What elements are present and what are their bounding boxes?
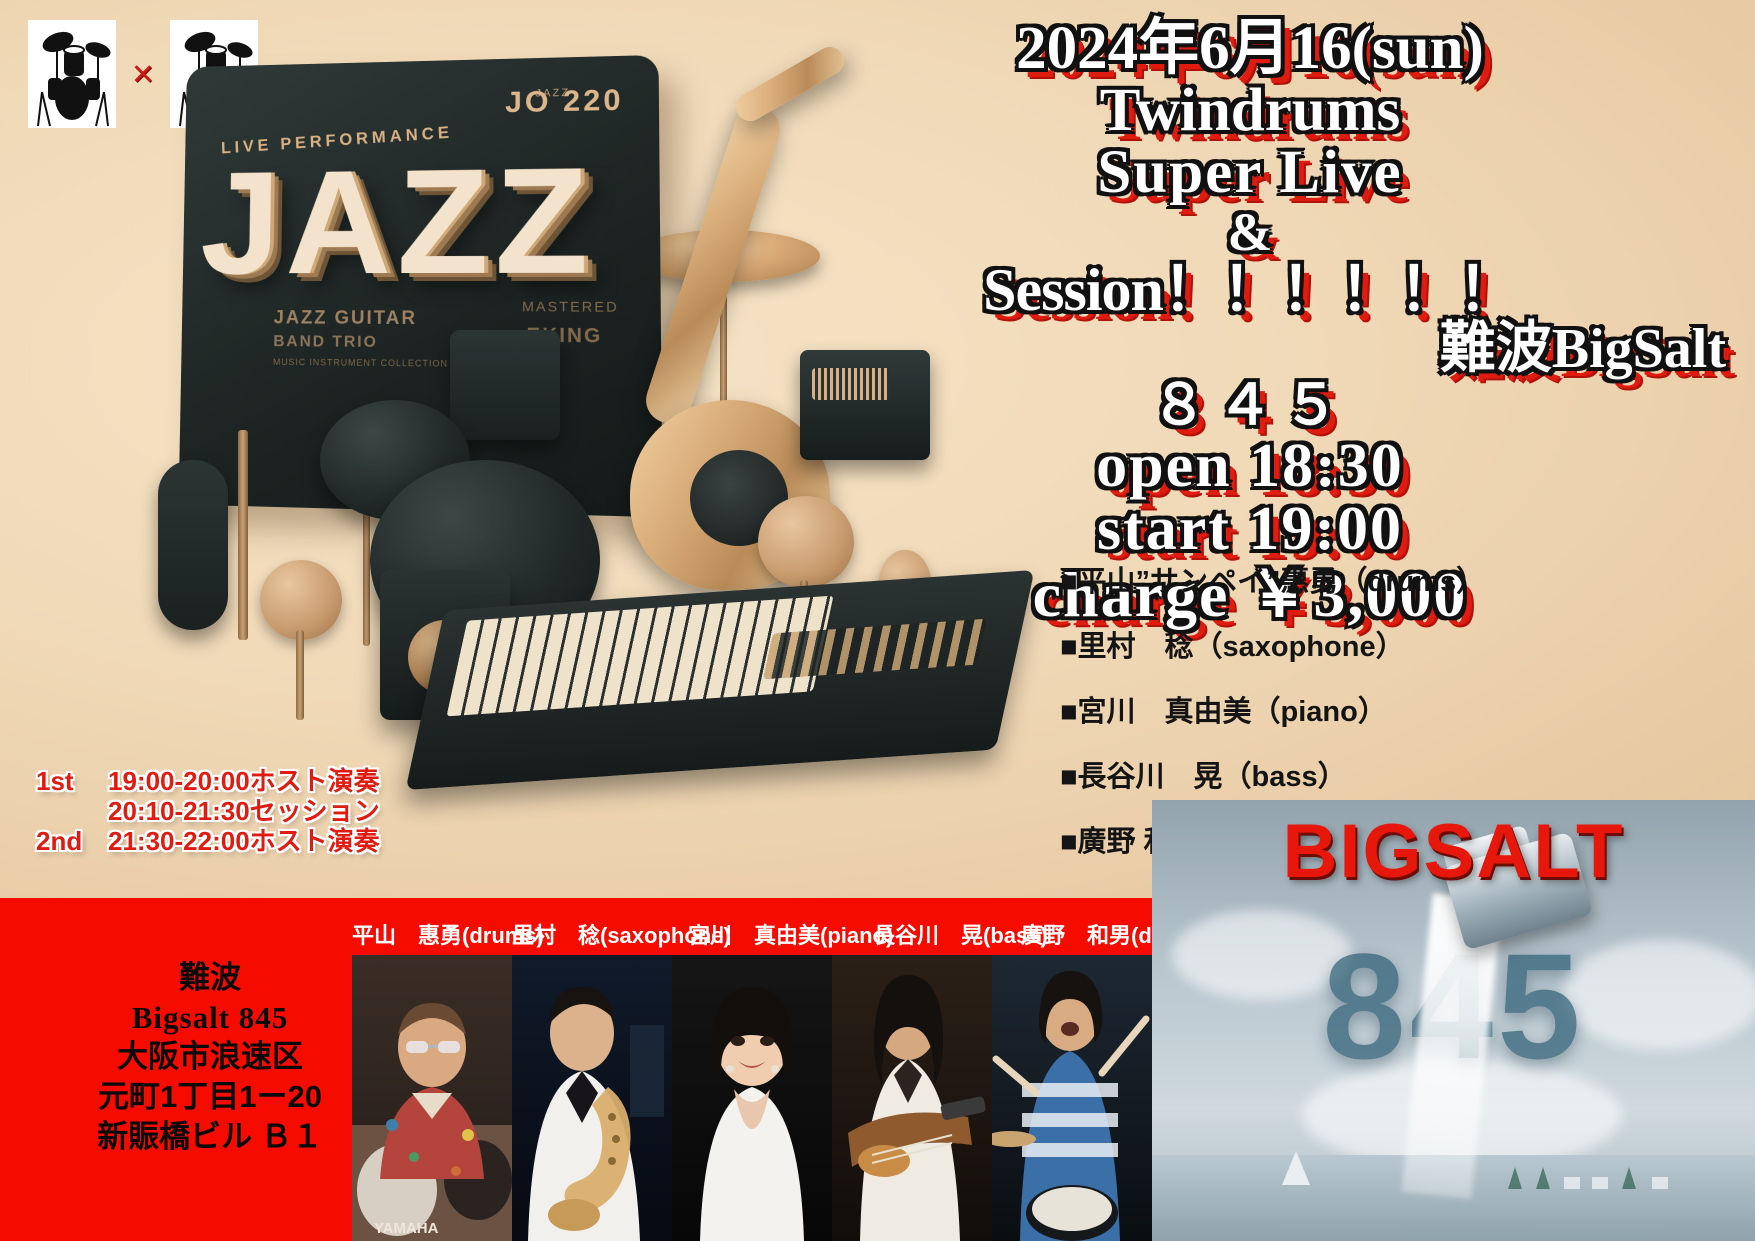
headline-date: 2024年6月16(sun) (760, 18, 1740, 80)
boat-icon (1282, 1151, 1310, 1185)
venue-line-3: 大阪市浪速区 (60, 1037, 360, 1077)
venue-line-5: 新賑橋ビル Ｂ１ (60, 1117, 360, 1157)
headline-superlive: Super Live (760, 142, 1740, 204)
headline-open: open 18:30 (760, 435, 1740, 498)
headline-twindrums: Twindrums (760, 80, 1740, 142)
member-item: ■里村 稔（saxophone） (1060, 623, 1700, 665)
schedule-text: 20:10-21:30セッション (108, 796, 416, 826)
schedule-text: 19:00-20:00ホスト演奏 (108, 766, 416, 796)
schedule-tag: 2nd (36, 826, 94, 856)
schedule-tag: 1st (36, 766, 94, 796)
headline-ampersand: & (760, 205, 1740, 260)
schedule-row: 2nd 21:30-22:00ホスト演奏 (36, 826, 416, 856)
headline-start: start 19:00 (760, 498, 1740, 561)
venue-line-2: Bigsalt 845 (60, 998, 360, 1038)
tree-icon (1622, 1167, 1636, 1189)
photo-hasegawa (832, 955, 992, 1241)
photo-label: 里村 稔(saxophone) (512, 918, 688, 950)
board-sub3: MUSIC INSTRUMENT COLLECTION (273, 357, 448, 369)
headline-venue: 難波BigSalt (760, 321, 1740, 378)
venue-address: 難波 Bigsalt 845 大阪市浪速区 元町1丁目1ー20 新賑橋ビル Ｂ１ (60, 958, 360, 1156)
headline-block: 2024年6月16(sun) Twindrums Super Live & Se… (760, 18, 1740, 627)
schedule-text: 21:30-22:00ホスト演奏 (108, 826, 416, 856)
headline-session: Session！！！！！！ (760, 260, 1740, 321)
microphone-stand (296, 630, 304, 720)
board-sub2: BAND TRIO (273, 333, 378, 352)
drum-stick (238, 430, 248, 640)
tree-icon (1508, 1167, 1522, 1189)
photo-miyagawa (672, 955, 832, 1241)
photo-strip: YAMAHA (352, 955, 1152, 1241)
member-item: ■宮川 真由美（piano） (1060, 688, 1700, 730)
photo-label: 宮川 真由美(piano) (688, 918, 873, 950)
member-item: ■長谷川 晃（bass） (1060, 753, 1700, 795)
board-sub4: MASTERED (522, 298, 619, 315)
svg-text:YAMAHA: YAMAHA (374, 1220, 439, 1237)
house-icon (1652, 1177, 1668, 1189)
schedule-row: 1st 19:00-20:00ホスト演奏 (36, 766, 416, 796)
board-jo-label: JO 220 (505, 84, 624, 120)
photo-satomura (512, 955, 672, 1241)
schedule-tag (36, 796, 94, 826)
member-item: ■平山”サンペイ”惠勇（drums） (1060, 558, 1700, 600)
photo-label: 長谷川 晃(bass) (873, 918, 1021, 950)
house-icon (1564, 1177, 1580, 1189)
bigsalt-logo-panel: 845 BIGSALT (1152, 800, 1755, 1241)
schedule-block: 1st 19:00-20:00ホスト演奏 20:10-21:30セッション 2n… (36, 766, 416, 856)
board-jazz-title: JAZZ (200, 144, 628, 296)
tree-icon (1536, 1167, 1550, 1189)
poster: × (0, 0, 1755, 1241)
microphone-icon (260, 560, 342, 640)
board-sub1: JAZZ GUITAR (274, 308, 418, 330)
headline-venue-num: ８４５ (760, 378, 1740, 435)
tom-drum-icon (450, 330, 560, 440)
venue-line-4: 元町1丁目1ー20 (60, 1077, 360, 1117)
photo-hirono (992, 955, 1152, 1241)
photo-label-row: 平山 惠勇(drums) 里村 稔(saxophone) 宮川 真由美(pian… (352, 918, 1152, 950)
bigsalt-wordmark: BIGSALT (1152, 808, 1755, 895)
photo-label: 平山 惠勇(drums) (352, 918, 512, 950)
beige-panel: × (0, 0, 1755, 900)
photo-label: 廣野 和男(drums) (1021, 918, 1171, 950)
schedule-row: 20:10-21:30セッション (36, 796, 416, 826)
percussion-icon (158, 460, 228, 630)
house-icon (1592, 1177, 1608, 1189)
venue-line-1: 難波 (60, 958, 360, 998)
photo-hirayama: YAMAHA (352, 955, 512, 1241)
